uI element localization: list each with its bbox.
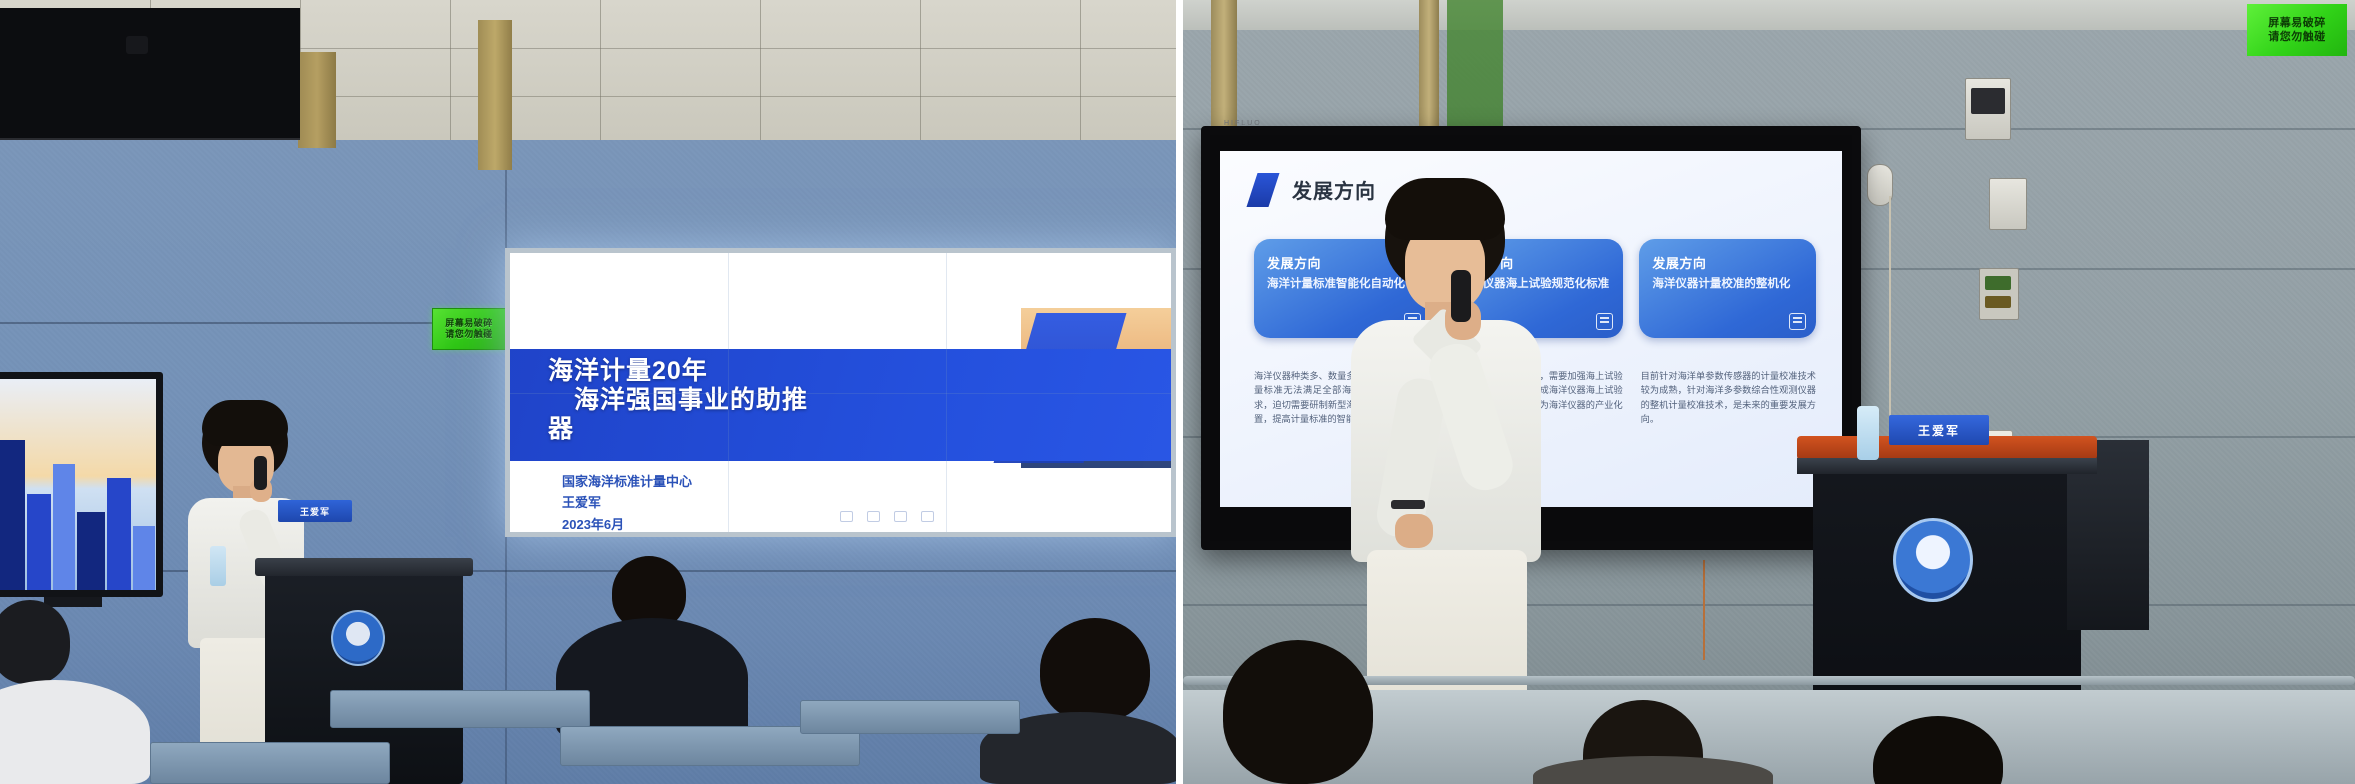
screen-warning-sign: 屏幕易破碎 请您勿触碰 <box>432 308 506 350</box>
tv-brand-label: HIFLUO <box>1224 120 1262 127</box>
warning-line-1: 屏幕易破碎 <box>445 319 493 328</box>
ceiling-speaker-icon <box>126 36 148 54</box>
presentation-screen-left: 海洋计量20年 海洋强国事业的助推 器 国家海洋标准计量中心 王爱军 2023年… <box>505 248 1176 537</box>
slide-accent-shape <box>1246 173 1279 207</box>
slide-footer-icons <box>840 511 934 522</box>
slide-title-line-2: 海洋强国事业的助推 <box>574 386 1068 415</box>
bench-row <box>330 690 590 728</box>
wood-beam <box>298 52 336 148</box>
warning-line-2: 请您勿触碰 <box>445 330 493 339</box>
slide-icon-4 <box>921 511 934 522</box>
nameplate-right: 王爱军 <box>1889 415 1989 445</box>
audience-head <box>1040 618 1150 722</box>
slide-icon-3 <box>894 511 907 522</box>
slide-presenter: 王爱军 <box>562 492 692 513</box>
panel-divider <box>1176 0 1183 784</box>
title-slide: 海洋计量20年 海洋强国事业的助推 器 国家海洋标准计量中心 王爱军 2023年… <box>510 253 1171 532</box>
slide-date: 2023年6月 <box>562 514 692 532</box>
slide-icon-1 <box>840 511 853 522</box>
slide-card: 发展方向 海洋仪器计量校准的整机化 <box>1639 239 1816 338</box>
wall-seam <box>0 570 1176 572</box>
screenshot-composite: 屏幕易破碎 请您勿触碰 海洋计量20年 海洋强国事业的助推 器 国家海洋标准计量… <box>0 0 2355 784</box>
warning-line-1: 屏幕易破碎 <box>2268 18 2326 29</box>
monitor-image <box>0 379 156 590</box>
slide-organization: 国家海洋标准计量中心 <box>562 471 692 492</box>
sensor-window-icon <box>1971 88 2005 114</box>
left-photo-panel: 屏幕易破碎 请您勿触碰 海洋计量20年 海洋强国事业的助推 器 国家海洋标准计量… <box>0 0 1176 784</box>
body-column: 目前针对海洋单参数传感器的计量校准技术较为成熟，针对海洋多参数综合性观测仪器的整… <box>1641 369 1816 426</box>
document-icon <box>1789 313 1806 330</box>
side-monitor <box>0 372 163 597</box>
floor-cable <box>1703 560 1705 660</box>
ceiling-right <box>1183 0 2355 34</box>
audience-head <box>1223 640 1373 784</box>
warning-line-2: 请您勿触碰 <box>2268 32 2326 43</box>
nameplate-right-text: 王爱军 <box>1918 422 1960 439</box>
monitor-stand <box>44 597 102 607</box>
institution-emblem <box>1893 518 1973 602</box>
slide-icon-2 <box>867 511 880 522</box>
card-heading: 发展方向 <box>1652 253 1803 272</box>
slide-title-block: 海洋计量20年 海洋强国事业的助推 器 <box>548 357 1068 443</box>
screen-warning-sign-right: 屏幕易破碎 请您勿触碰 <box>2247 4 2347 56</box>
microphone-icon <box>254 456 267 490</box>
nameplate-left: 王爱军 <box>278 500 352 522</box>
hanging-cable <box>1889 196 1891 426</box>
bench-row <box>800 700 1020 734</box>
document-icon <box>1596 313 1613 330</box>
thermostat-panel[interactable] <box>1989 178 2027 230</box>
bench-row <box>150 742 390 784</box>
slide-subtitle-block: 国家海洋标准计量中心 王爱军 2023年6月 <box>562 471 692 532</box>
nameplate-left-text: 王爱军 <box>300 505 330 518</box>
wood-column <box>478 20 512 170</box>
indicator-light-icon <box>1985 296 2011 308</box>
institution-emblem <box>331 610 385 666</box>
microphone-icon <box>1451 270 1471 322</box>
water-bottle <box>210 546 226 586</box>
water-bottle <box>1857 406 1879 460</box>
slide-title-line-1: 海洋计量20年 <box>548 357 1068 386</box>
wristwatch <box>1391 500 1425 509</box>
overhead-dark-panel <box>0 8 300 140</box>
card-text: 海洋仪器计量校准的整机化 <box>1652 277 1803 293</box>
indicator-light-icon <box>1985 276 2011 290</box>
right-photo-panel: 屏幕易破碎 请您勿触碰 HIFLUO 发展方向 发展方向 <box>1183 0 2355 784</box>
slide-title-line-3: 器 <box>548 415 1068 444</box>
